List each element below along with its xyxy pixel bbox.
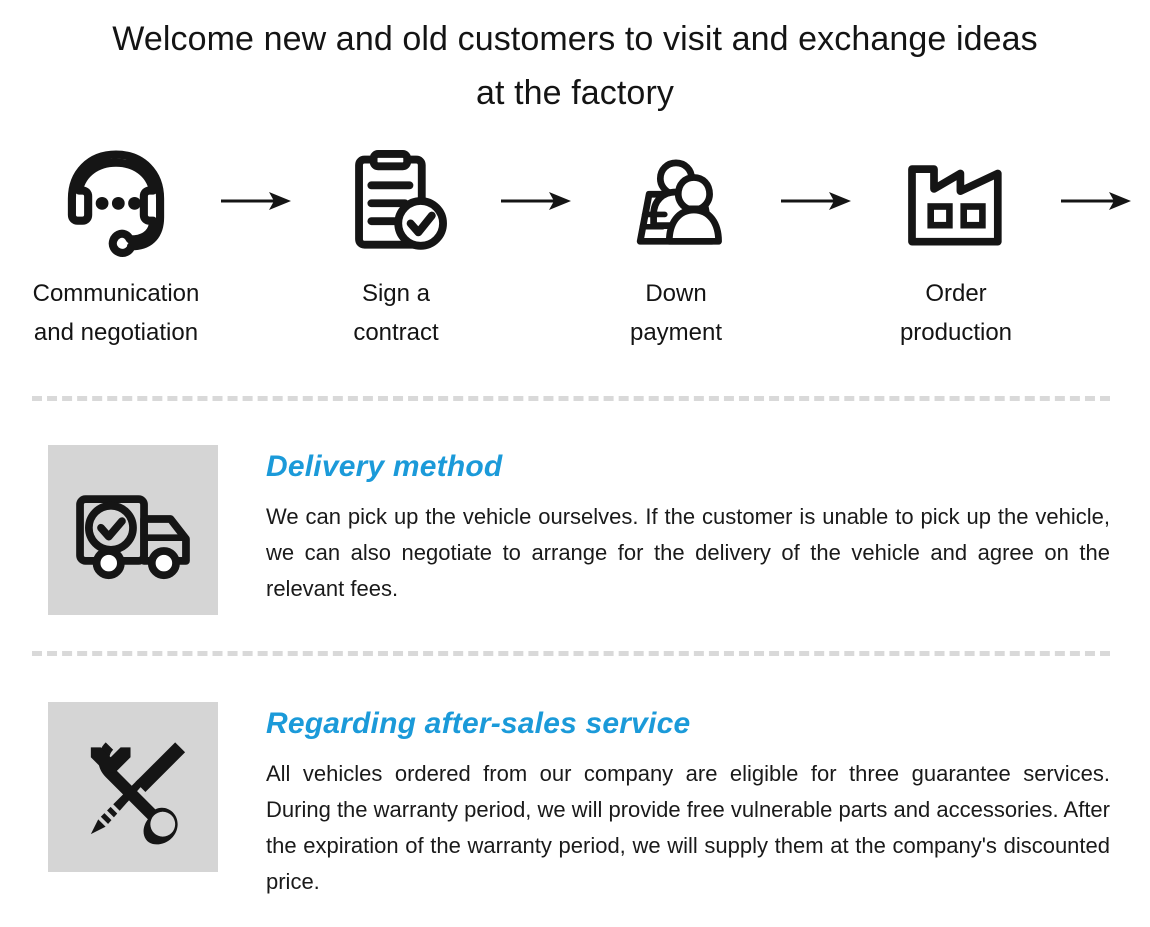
process-flow: Communication and negotiation Sign a con… [0,120,1150,352]
flow-step-label: Sign a contract [353,274,438,352]
flow-step-sign-contract: Sign a contract [298,142,494,352]
arrow-right-icon [494,142,578,260]
factory-icon [901,142,1011,260]
flow-step-communication: Communication and negotiation [18,142,214,352]
section-after-sales-service: Regarding after-sales service All vehicl… [0,702,1150,900]
people-payment-icon [620,142,732,260]
section-body: Delivery method We can pick up the vehic… [218,445,1110,607]
headset-support-icon [58,142,174,260]
flow-step-label: Down payment [630,274,722,352]
section-heading: Delivery method [266,449,1110,485]
section-divider [32,396,1110,401]
section-delivery-method: Delivery method We can pick up the vehic… [0,445,1150,615]
flow-step-order-production: Order production [858,142,1054,352]
flow-step-label: Order production [900,274,1012,352]
arrow-right-icon [774,142,858,260]
flow-step-acceptance: Acceptance and final payment [1138,142,1150,352]
arrow-right-icon [214,142,298,260]
flow-step-label: Communication and negotiation [33,274,200,352]
section-divider [32,651,1110,656]
arrow-right-icon [1054,142,1138,260]
section-text: All vehicles ordered from our company ar… [266,756,1110,900]
flow-step-down-payment: Down payment [578,142,774,352]
section-body: Regarding after-sales service All vehicl… [218,702,1110,900]
wrench-screwdriver-tools-icon [48,702,218,872]
clipboard-check-icon [340,142,452,260]
delivery-truck-check-icon [48,445,218,615]
section-heading: Regarding after-sales service [266,706,1110,742]
page-title: Welcome new and old customers to visit a… [0,0,1150,120]
section-text: We can pick up the vehicle ourselves. If… [266,499,1110,607]
